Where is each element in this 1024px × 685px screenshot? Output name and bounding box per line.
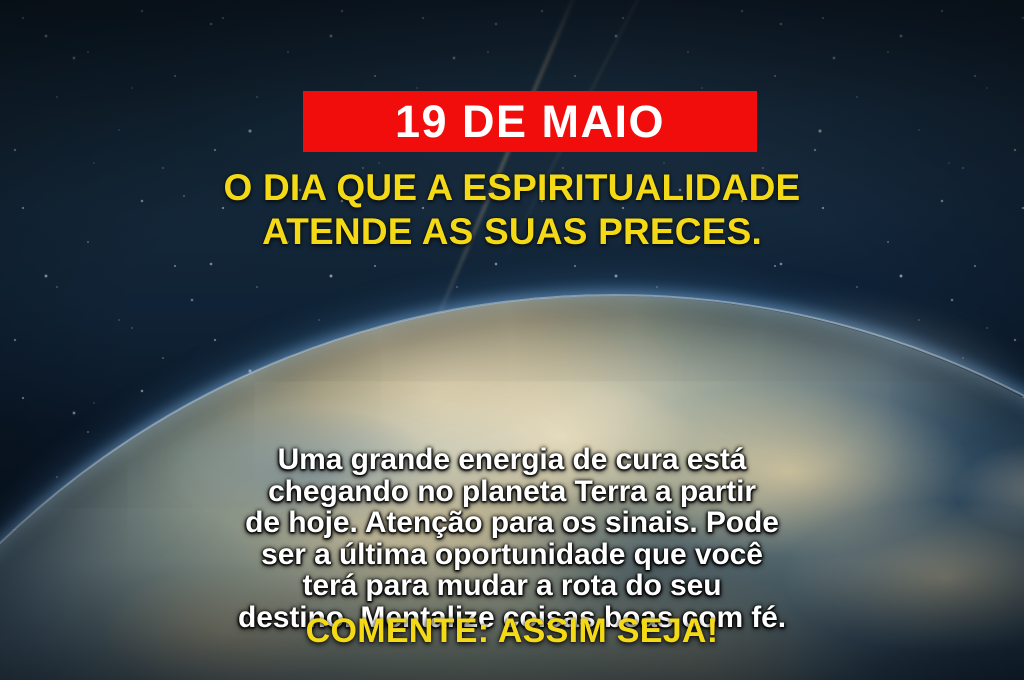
body-copy: Uma grande energia de cura está chegando… [38,444,986,633]
call-to-action-text: COMENTE: ASSIM SEJA! [0,614,1024,648]
headline-line-1: O DIA QUE A ESPIRITUALIDADE [0,166,1024,210]
date-banner-text: 19 DE MAIO [395,99,665,144]
body-line-3: de hoje. Atenção para os sinais. Pode [38,507,986,539]
body-line-1: Uma grande energia de cura está [38,444,986,476]
body-line-2: chegando no planeta Terra a partir [38,476,986,508]
headline-line-2: ATENDE AS SUAS PRECES. [0,210,1024,254]
headline: O DIA QUE A ESPIRITUALIDADE ATENDE AS SU… [0,166,1024,253]
body-line-4: ser a última oportunidade que você [38,539,986,571]
date-banner: 19 DE MAIO [303,91,757,152]
poster-content: 19 DE MAIO O DIA QUE A ESPIRITUALIDADE A… [0,0,1024,685]
poster-canvas: 19 DE MAIO O DIA QUE A ESPIRITUALIDADE A… [0,0,1024,685]
body-line-5: terá para mudar a rota do seu [38,570,986,602]
bottom-border-strip [0,680,1024,685]
